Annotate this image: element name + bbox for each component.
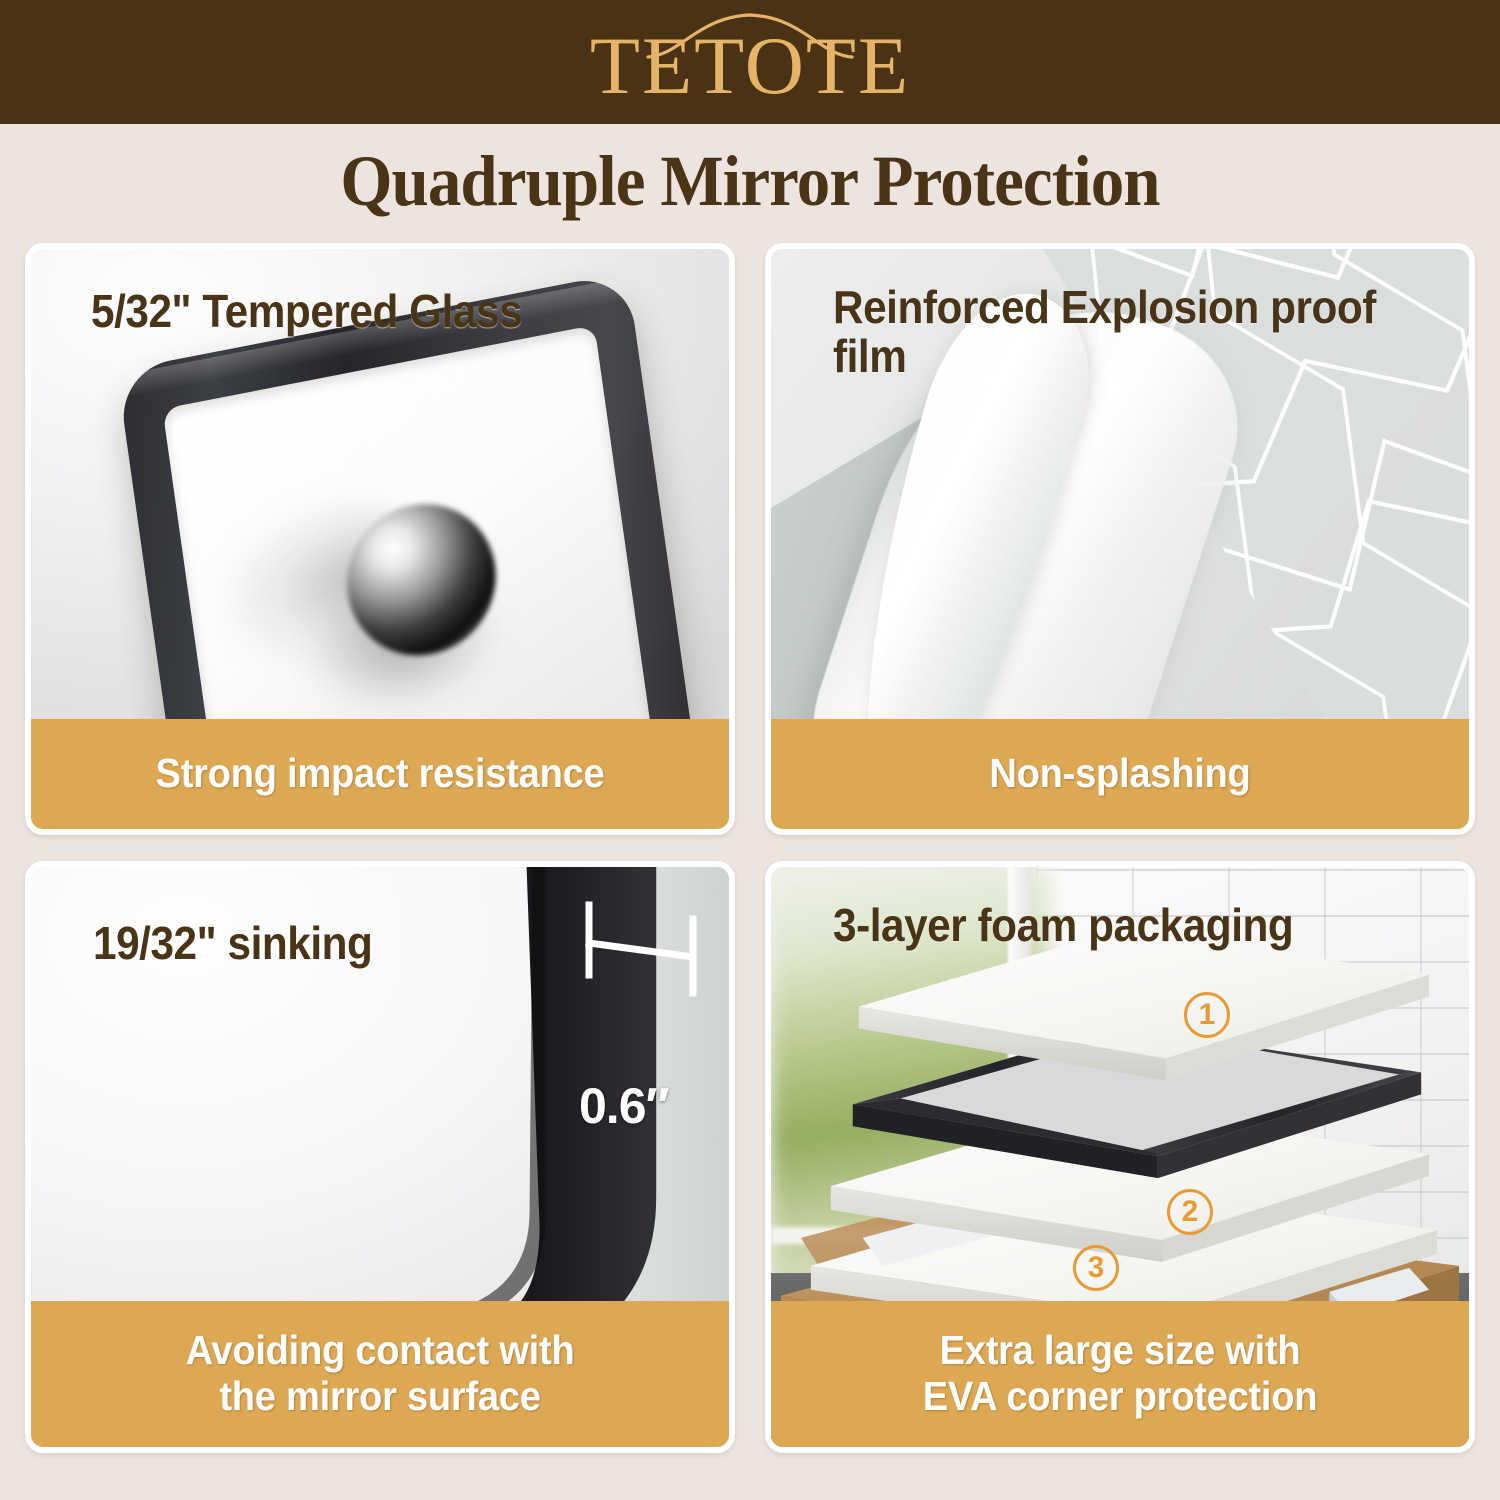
panel-heading: 5/32" Tempered Glass	[91, 287, 680, 336]
top-foam-layer	[859, 929, 1429, 1081]
panel-caption-text: Extra large size with EVA corner protect…	[795, 1328, 1444, 1420]
panel-caption-text: Strong impact resistance	[55, 751, 704, 797]
panel-explosion-proof-film: Reinforced Explosion proof film Non-spla…	[765, 243, 1475, 835]
panel-caption-bar: Avoiding contact with the mirror surface	[31, 1301, 729, 1447]
feature-grid: 5/32" Tempered Glass Strong impact resis…	[25, 243, 1475, 1453]
layer-marker-3: 3	[1073, 1245, 1119, 1291]
layer-marker-1: 1	[1184, 992, 1230, 1038]
panel-tempered-glass: 5/32" Tempered Glass Strong impact resis…	[25, 243, 735, 835]
dimension-label: 0.6″	[579, 1077, 668, 1135]
brand-logo: TETOTE	[570, 7, 930, 117]
panel-heading: 19/32" sinking	[93, 919, 645, 968]
panel-foam-packaging: 1 2 3 3-layer foam packaging Extra large…	[765, 861, 1475, 1453]
panel-caption-bar: Extra large size with EVA corner protect…	[771, 1301, 1469, 1447]
panel-caption-bar: Strong impact resistance	[31, 719, 729, 829]
panel-caption-text: Avoiding contact with the mirror surface	[55, 1328, 704, 1420]
panel-caption-bar: Non-splashing	[771, 719, 1469, 829]
panel-caption-text: Non-splashing	[795, 751, 1444, 797]
panel-heading: Reinforced Explosion proof film	[833, 283, 1403, 381]
page-title: Quadruple Mirror Protection	[53, 140, 1448, 223]
brand-header-bar: TETOTE	[0, 0, 1500, 124]
panel-sinking-frame: 0.6″ 19/32" sinking Avoiding contact wit…	[25, 861, 735, 1453]
panel-heading: 3-layer foam packaging	[833, 901, 1422, 950]
brand-logo-text: TETOTE	[570, 25, 930, 107]
layer-marker-2: 2	[1167, 1189, 1213, 1235]
